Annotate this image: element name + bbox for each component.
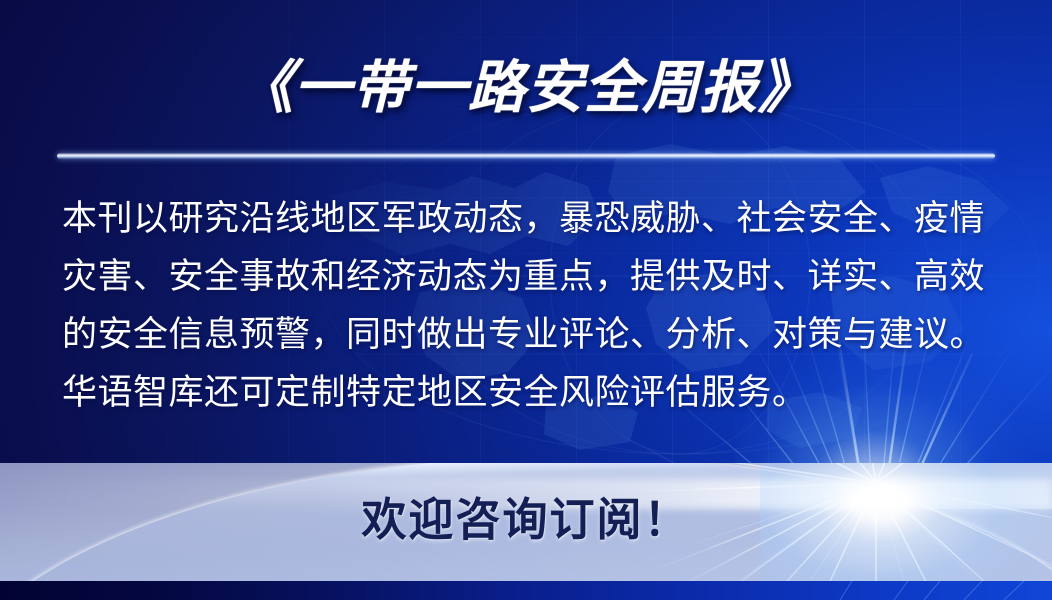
description-text: 本刊以研究沿线地区军政动态，暴恐威胁、社会安全、疫情 灾害、安全事故和经济动态为… bbox=[62, 190, 1008, 422]
poster-banner: 《一带一路安全周报》 本刊以研究沿线地区军政动态，暴恐威胁、社会安全、疫情 灾害… bbox=[0, 0, 1052, 600]
description-line-4: 华语智库还可定制特定地区安全风险评估服务。 bbox=[62, 364, 1008, 422]
bottom-strip-rays bbox=[812, 581, 1052, 600]
description-line-2: 灾害、安全事故和经济动态为重点，提供及时、详实、高效 bbox=[62, 248, 1008, 306]
page-title: 《一带一路安全周报》 bbox=[0, 48, 1052, 128]
footer-cta-text: 欢迎咨询订阅！ bbox=[0, 487, 1052, 553]
description-line-3: 的安全信息预警，同时做出专业评论、分析、对策与建议。 bbox=[62, 306, 1008, 364]
bottom-strip bbox=[0, 581, 1052, 600]
description-line-1: 本刊以研究沿线地区军政动态，暴恐威胁、社会安全、疫情 bbox=[62, 190, 1008, 248]
title-divider bbox=[57, 153, 995, 159]
